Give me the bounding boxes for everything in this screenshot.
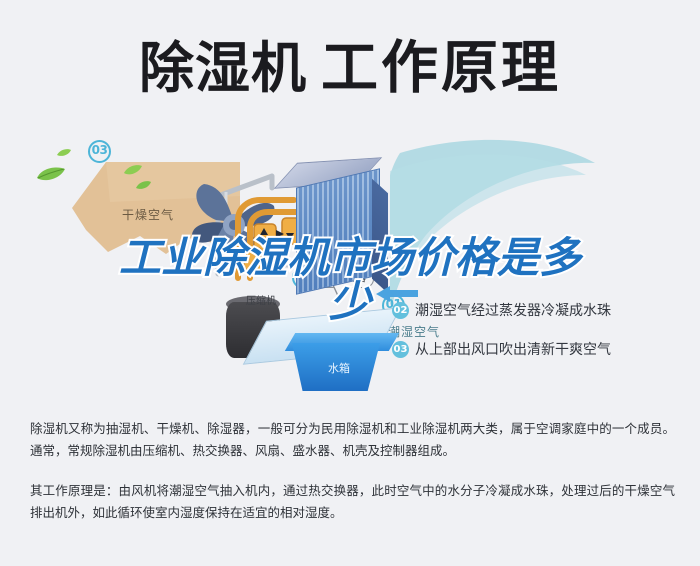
title-part-1: 除湿机 xyxy=(139,37,307,99)
badge-dry-air: 03 xyxy=(88,140,111,163)
leaf-icon xyxy=(57,148,71,157)
body-copy: 除湿机又称为抽湿机、干燥机、除湿器，一般可分为民用除湿机和工业除湿机两大类，属于… xyxy=(30,418,675,542)
legend-text: 从上部出风口吹出清新干爽空气 xyxy=(415,339,611,359)
dry-air-label: 干燥空气 xyxy=(122,206,174,223)
legend-item: 03 从上部出风口吹出清新干爽空气 xyxy=(392,339,692,359)
water-tank-label: 水箱 xyxy=(328,360,350,376)
leaf-icon xyxy=(36,166,66,182)
heat-exchanger-fins xyxy=(297,170,379,294)
badge-dry-air-label: 03 xyxy=(88,140,111,163)
title-part-2: 工作原理 xyxy=(321,35,561,101)
legend-item: 02 潮湿空气经过蒸发器冷凝成水珠 xyxy=(392,300,692,320)
page-title: 除湿机工作原理 xyxy=(0,22,700,104)
paragraph-2: 其工作原理是：由风机将潮湿空气抽入机内，通过热交换器，此时空气中的水分子冷凝成水… xyxy=(30,480,675,524)
compressor-label: 压缩机 xyxy=(246,292,276,307)
heat-exchanger-block xyxy=(296,168,380,294)
leaf-icon xyxy=(124,164,142,176)
legend-text: 潮湿空气经过蒸发器冷凝成水珠 xyxy=(415,300,611,320)
legend-badge: 02 xyxy=(392,302,409,319)
infographic-page: 除湿机工作原理 干燥空气 xyxy=(0,0,700,566)
legend-badge: 03 xyxy=(392,341,409,358)
heat-exchanger-side xyxy=(372,179,388,293)
paragraph-1: 除湿机又称为抽湿机、干燥机、除湿器，一般可分为民用除湿机和工业除湿机两大类，属于… xyxy=(30,418,675,462)
leaf-icon xyxy=(136,180,151,190)
legend: 02 潮湿空气经过蒸发器冷凝成水珠 03 从上部出风口吹出清新干爽空气 xyxy=(392,300,692,378)
